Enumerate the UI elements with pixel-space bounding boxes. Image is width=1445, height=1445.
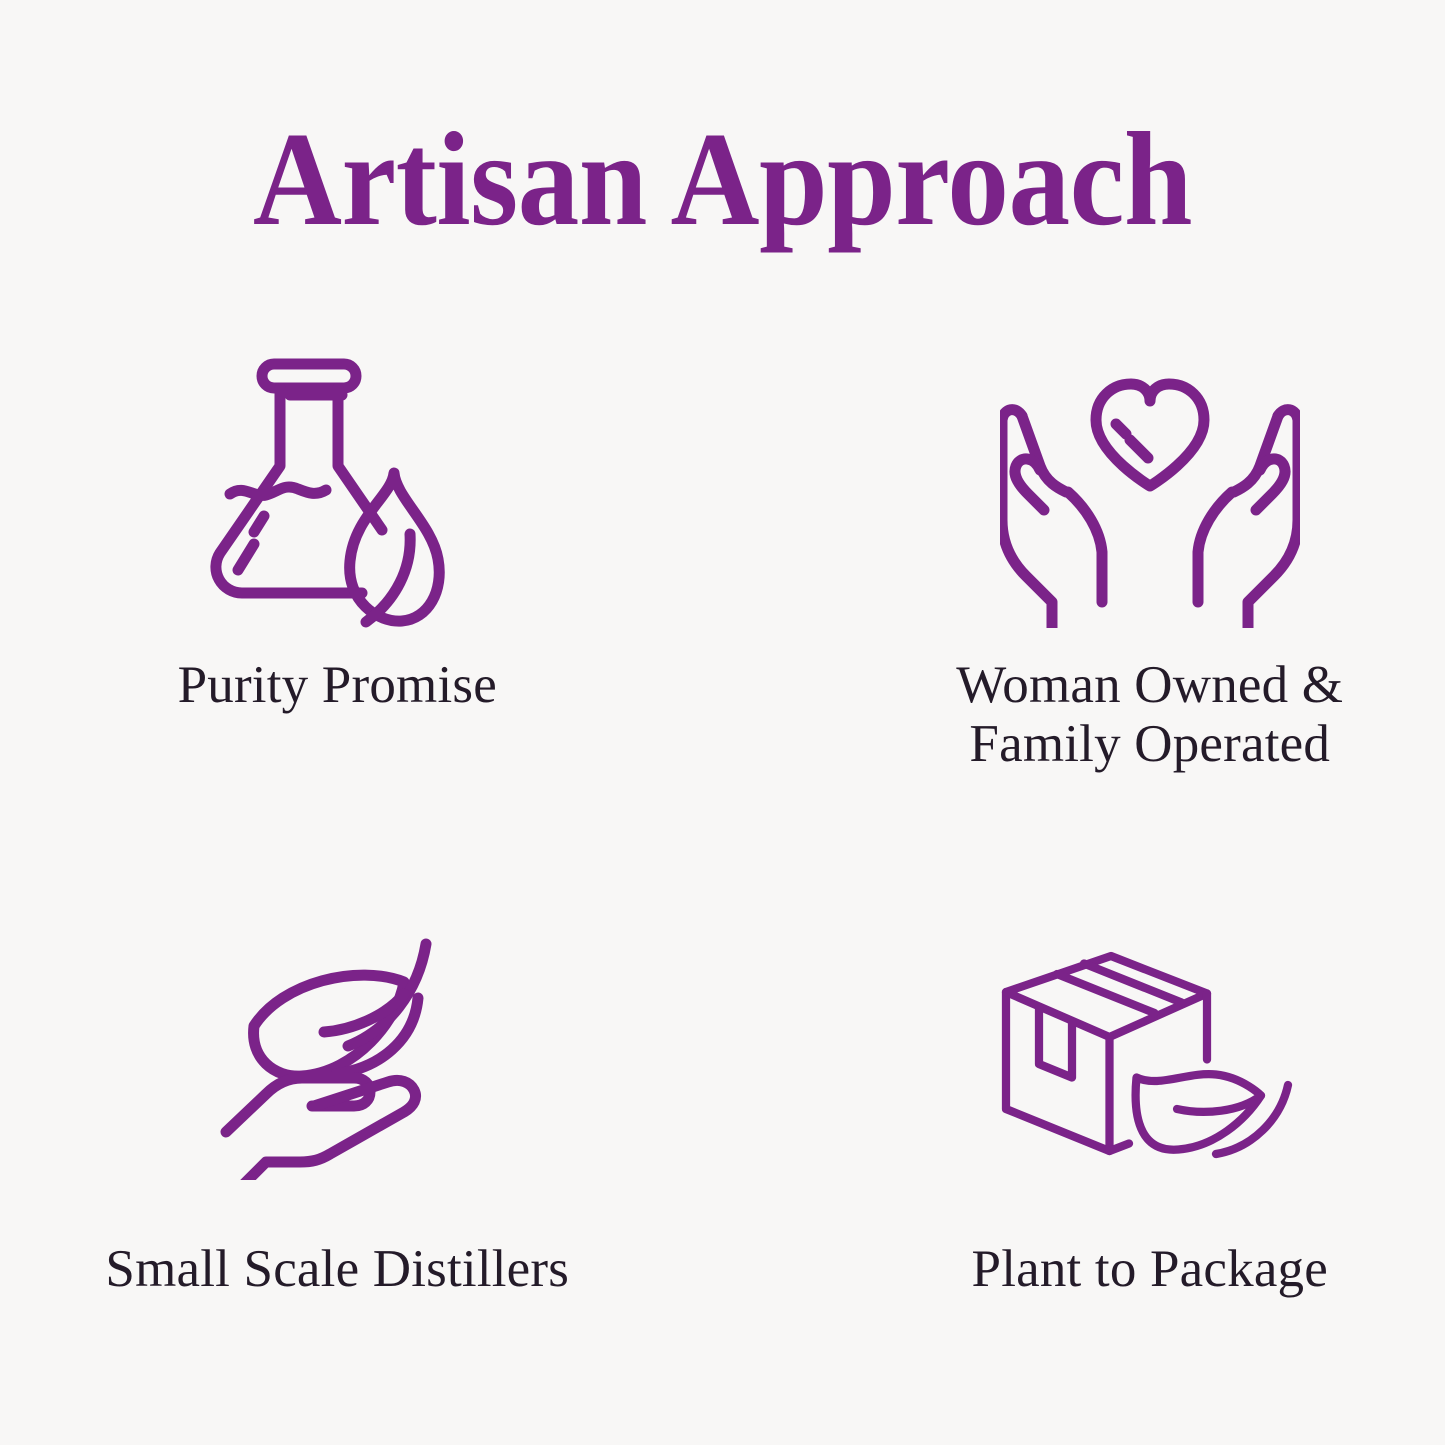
feature-grid: Purity Promise <box>0 330 1445 1390</box>
feature-label: Small Scale Distillers <box>105 1240 569 1299</box>
feature-label: Plant to Package <box>972 1240 1328 1299</box>
hand-leaf-icon <box>187 910 487 1200</box>
flask-leaf-icon <box>187 348 487 638</box>
feature-item-small-scale-distillers: Small Scale Distillers <box>0 860 699 1390</box>
feature-item-woman-owned: Woman Owned & Family Operated <box>789 330 1445 860</box>
box-leaf-icon <box>1000 910 1300 1200</box>
page-title: Artisan Approach <box>58 108 1387 250</box>
hands-heart-icon <box>1000 348 1300 638</box>
feature-item-plant-to-package: Plant to Package <box>789 860 1445 1390</box>
feature-label: Purity Promise <box>178 656 497 715</box>
feature-label: Woman Owned & Family Operated <box>956 656 1343 775</box>
page-title-container: Artisan Approach <box>0 108 1445 250</box>
feature-item-purity-promise: Purity Promise <box>0 330 699 860</box>
artisan-approach-panel: Artisan Approach <box>0 0 1445 1445</box>
